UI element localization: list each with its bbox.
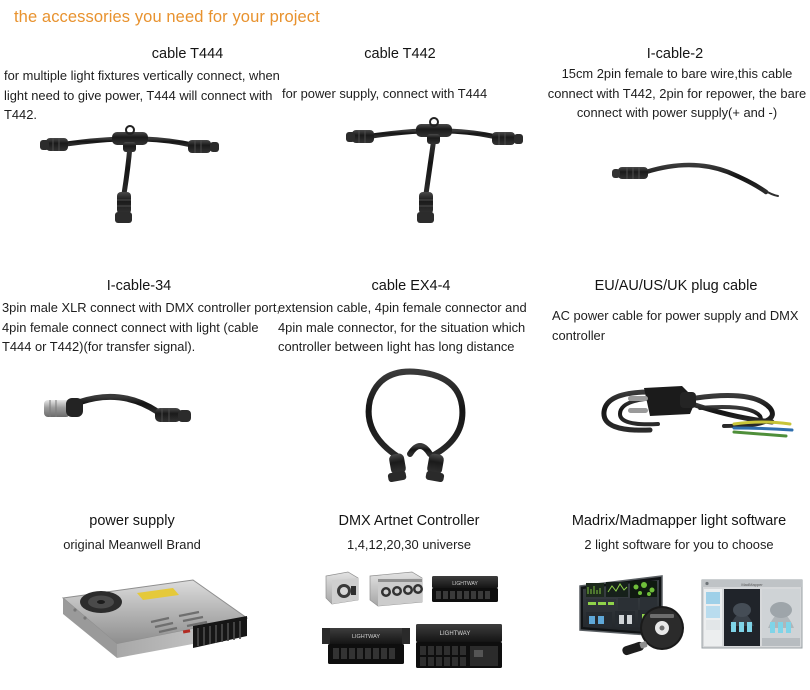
- product-title-ex44: cable EX4-4: [280, 278, 542, 294]
- product-title-icable34: I-cable-34: [0, 278, 278, 294]
- svg-text:MadMapper: MadMapper: [741, 582, 763, 587]
- product-description-ex44: extension cable, 4pin female connector a…: [278, 298, 546, 357]
- product-title-plug: EU/AU/US/UK plug cable: [545, 278, 807, 294]
- page-banner-title: the accessories you need for your projec…: [14, 8, 320, 27]
- product-description-power-supply: original Meanwell Brand: [18, 535, 246, 555]
- product-title-t442: cable T442: [300, 46, 500, 62]
- product-image-power-supply: [33, 562, 261, 677]
- product-title-t444: cable T444: [90, 46, 285, 62]
- product-title-software: Madrix/Madmapper light software: [550, 513, 808, 529]
- svg-text:LIGHTWAY: LIGHTWAY: [452, 581, 478, 587]
- product-description-t442: for power supply, connect with T444: [282, 84, 542, 104]
- product-image-icable2: [586, 150, 801, 210]
- product-description-t444: for multiple light fixtures vertically c…: [4, 66, 282, 125]
- svg-text:LIGHTWAY: LIGHTWAY: [440, 631, 471, 637]
- svg-text:LIGHTWAY: LIGHTWAY: [352, 634, 380, 640]
- product-image-t442: [330, 104, 530, 229]
- product-description-plug: AC power cable for power supply and DMX …: [552, 306, 810, 345]
- product-image-icable34: [22, 378, 227, 450]
- product-description-dmx-controller: 1,4,12,20,30 universe: [295, 535, 523, 555]
- product-image-ex44: [354, 362, 484, 482]
- product-title-power-supply: power supply: [18, 513, 246, 529]
- product-image-t444: [20, 124, 240, 229]
- product-description-icable2: 15cm 2pin female to bare wire,this cable…: [543, 64, 810, 123]
- product-description-software: 2 light software for you to choose: [550, 535, 808, 555]
- product-image-dmx-controller: LIGHTWAY LIGHTWAY LIGHTWAY: [312, 558, 508, 676]
- product-title-dmx-controller: DMX Artnet Controller: [295, 513, 523, 529]
- product-title-icable2: I-cable-2: [545, 46, 805, 62]
- product-description-icable34: 3pin male XLR connect with DMX controlle…: [2, 298, 284, 357]
- product-image-plug: [584, 364, 804, 464]
- product-image-software: MadMapper: [570, 560, 805, 665]
